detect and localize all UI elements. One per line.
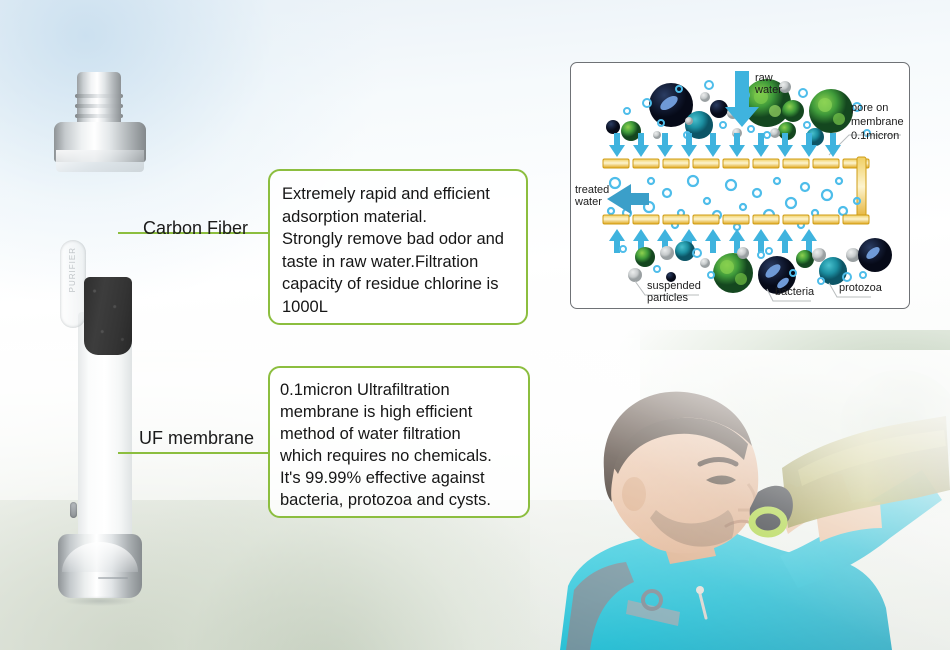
raw-water-label-line1: raw (755, 72, 773, 84)
callout-uf-line-5: It's 99.99% effective against (280, 467, 518, 489)
bacteria-label: bacteria (775, 286, 815, 298)
carbon-fiber-section (84, 277, 132, 355)
callout-uf-line-1: 0.1micron Ultrafiltration (280, 379, 518, 401)
nozzle-thread-1 (75, 94, 123, 98)
label-carbon-fiber: Carbon Fiber (143, 218, 248, 239)
callout-carbon-line-3: Strongly remove bad odor and (282, 228, 516, 251)
pore-label-line2: membrane (851, 116, 904, 128)
treated-water-label-line2: water (574, 196, 602, 208)
callout-carbon-line-5: capacity of residue chlorine is (282, 273, 516, 296)
infographic-canvas: PURIFIER Carbon Fiber Extremely rapid an… (0, 0, 950, 650)
product-base-seam (98, 577, 128, 579)
callout-carbon-line-4: taste in raw water.Filtration (282, 251, 516, 274)
product-vent-slot (70, 502, 77, 518)
suspended-particles-label-line2: particles (647, 292, 688, 304)
protozoa-label: protozoa (839, 282, 883, 294)
callout-uf-line-4: which requires no chemicals. (280, 445, 518, 467)
nozzle-thread-3 (75, 114, 123, 118)
raw-water-label-line2: water (754, 84, 782, 96)
pore-label-line3: 0.1micron (851, 130, 899, 142)
callout-carbon-fiber: Extremely rapid and efficient adsorption… (268, 169, 528, 325)
water-filter-product: PURIFIER (46, 72, 154, 572)
membrane-top (603, 159, 869, 168)
callout-uf-line-3: method of water filtration (280, 423, 518, 445)
membrane-diagram-panel: raw water pore on membrane 0.1micron (570, 62, 910, 309)
treated-water-label-line1: treated (575, 184, 609, 196)
product-shadow (64, 596, 136, 606)
callout-uf-line-2: membrane is high efficient (280, 401, 518, 423)
callout-carbon-line-2: adsorption material. (282, 206, 516, 229)
inflow-arrows (609, 133, 841, 157)
pore-label-line1: pore on (851, 102, 888, 114)
label-uf-membrane: UF membrane (139, 428, 254, 449)
suspended-particles-label-line1: suspended (647, 280, 701, 292)
callout-uf-line-6: bacteria, protozoa and cysts. (280, 489, 518, 511)
leader-line-uf-membrane (118, 452, 270, 454)
photo-haze-overlay (530, 350, 950, 650)
membrane-bottom (603, 215, 869, 224)
callout-carbon-line-1: Extremely rapid and efficient (282, 183, 516, 206)
callout-carbon-line-6: 1000L (282, 296, 516, 319)
membrane-right-wall (857, 157, 866, 223)
callout-uf-membrane: 0.1micron Ultrafiltration membrane is hi… (268, 366, 530, 518)
product-brand-text: PURIFIER (68, 247, 77, 292)
product-brand-emboss: PURIFIER (60, 240, 86, 328)
nozzle-thread-2 (75, 104, 123, 108)
